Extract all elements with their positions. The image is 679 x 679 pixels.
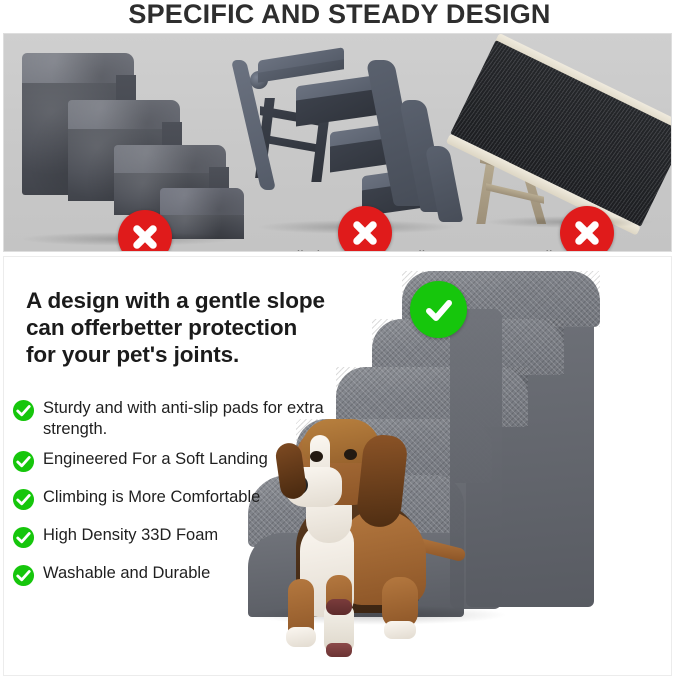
page-title: SPECIFIC AND STEADY DESIGN [0, 0, 679, 31]
check-mark-badge [410, 281, 467, 338]
caption-not-easy-to-climb: Not Easy To Climb [198, 249, 325, 252]
approved-design-panel: A design with a gentle slope can offerbe… [3, 256, 672, 676]
check-circle-icon [12, 488, 35, 516]
negative-item-foam-stairs [4, 34, 244, 252]
check-circle-icon [12, 526, 35, 554]
list-item-label: Engineered For a Soft Landing [43, 449, 268, 470]
x-mark-icon [572, 218, 602, 248]
x-mark-icon [350, 218, 380, 248]
headline-line-1: A design with a gentle slope [26, 287, 346, 314]
list-item-label: Climbing is More Comfortable [43, 487, 260, 508]
list-item-label: Sturdy and with anti-slip pads for extra… [43, 398, 340, 440]
x-mark-icon [130, 222, 160, 252]
negative-item-wood-ramp [444, 34, 672, 252]
list-item: High Density 33D Foam [10, 525, 340, 554]
headline-line-2: can offerbetter protection [26, 314, 346, 341]
check-circle-icon [12, 399, 35, 427]
headline: A design with a gentle slope can offerbe… [26, 287, 346, 368]
negative-examples-panel: Not Easy To Climb Slippery Easy To Fall [3, 33, 672, 252]
list-item: Climbing is More Comfortable [10, 487, 340, 516]
list-item: Engineered For a Soft Landing [10, 449, 340, 478]
caption-slippery-easy-to-fall: Slippery Easy To Fall [408, 249, 552, 252]
check-mark-icon [422, 293, 456, 327]
infographic-page: SPECIFIC AND STEADY DESIGN [0, 0, 679, 679]
list-item-label: High Density 33D Foam [43, 525, 218, 546]
x-mark-badge-3 [560, 206, 614, 252]
check-circle-icon [12, 564, 35, 592]
benefit-list: Sturdy and with anti-slip pads for extra… [10, 398, 340, 601]
check-circle-icon [12, 450, 35, 478]
negative-item-plastic-stairs [232, 34, 462, 252]
list-item: Washable and Durable [10, 563, 340, 592]
list-item-label: Washable and Durable [43, 563, 210, 584]
wood-ramp-illustration [444, 34, 672, 252]
list-item: Sturdy and with anti-slip pads for extra… [10, 398, 340, 440]
headline-line-3: for your pet's joints. [26, 341, 346, 368]
x-mark-badge-2 [338, 206, 392, 252]
